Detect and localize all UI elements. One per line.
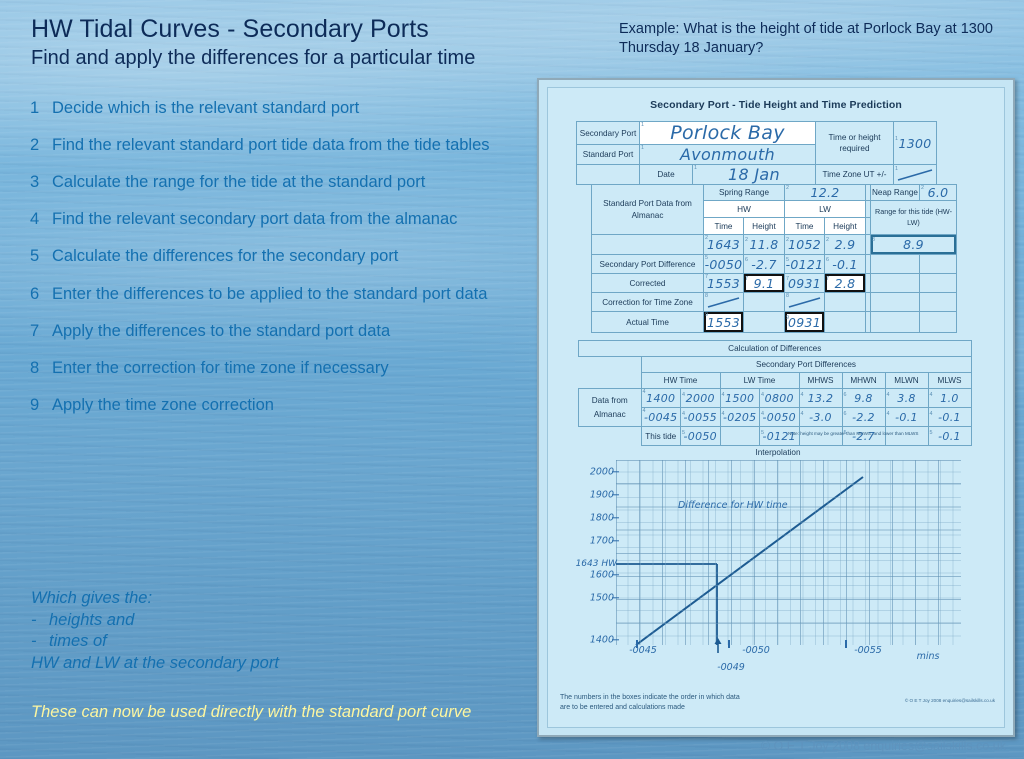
step-number: 6 [30, 284, 52, 305]
x-tick-mark [728, 640, 730, 648]
y-tick-label: 2000 [590, 467, 614, 478]
x-tick-label: -0045 [629, 645, 657, 656]
hw-height-value-cell[interactable]: 2 11.8 [744, 235, 785, 255]
col-mhws: MHWS [799, 373, 842, 389]
step-marker: 2 [745, 237, 748, 243]
standard-port-value: Avonmouth [680, 145, 775, 164]
step-marker: 4 [643, 389, 646, 395]
time-zone-label: Time Zone UT +/- [816, 165, 894, 185]
closing-line-3: -times of [31, 631, 531, 653]
step-marker: 4 [930, 392, 933, 398]
almanac-value: -0.1 [938, 411, 961, 424]
lw-height-value-cell[interactable]: 2 2.9 [825, 235, 866, 255]
y-tick-label: 1600 [590, 570, 614, 581]
time-or-height-field[interactable]: 1 1300 [894, 122, 937, 165]
step-number: 5 [30, 246, 52, 267]
corrected-hw-height-value: 9.1 [754, 276, 775, 291]
standard-port-data-label: Standard Port Data from Almanac [592, 185, 704, 235]
worksheet-footer: The numbers in the boxes indicate the or… [560, 693, 740, 713]
diagonal-stroke-icon [785, 293, 824, 311]
range-value: 8.9 [903, 237, 924, 252]
step-marker: 5 [705, 255, 708, 261]
up-arrow-icon [710, 638, 726, 654]
x-axis-label: mins [917, 651, 940, 662]
chart-plot [616, 460, 961, 645]
step-marker: 4 [682, 411, 685, 417]
diagonal-stroke-icon [704, 293, 743, 311]
secondary-port-field[interactable]: 1 Porlock Bay [640, 122, 816, 145]
closing-line-1: Which gives the: [31, 588, 531, 610]
list-item: 7 Apply the differences to the standard … [30, 321, 545, 342]
actual-lw-time-cell[interactable]: 9 0931 [785, 312, 825, 333]
step-marker: 1 [641, 145, 644, 151]
x-tick-mark [845, 640, 847, 648]
almanac-cell[interactable]: 40800 [760, 389, 800, 408]
actual-lw-time-value: 0931 [788, 315, 821, 330]
almanac-cell[interactable]: 4-0.1 [928, 408, 971, 427]
this-tide-mhw-cell[interactable]: 5-2.7 [842, 427, 885, 446]
chart-annotation: Difference for HW time [678, 500, 788, 511]
hw-time-header: Time [704, 218, 744, 235]
neap-range-field[interactable]: 2 6.0 [920, 185, 957, 201]
almanac-value: 3.8 [897, 392, 915, 405]
lw-group-label: LW [785, 201, 866, 218]
list-item: 9 Apply the time zone correction [30, 395, 545, 416]
spring-range-value: 12.2 [810, 185, 839, 200]
hw-time-value-cell[interactable]: 2 1643 [704, 235, 744, 255]
this-tide-hw-value: -0050 [684, 430, 717, 443]
almanac-value: 0800 [765, 392, 794, 405]
neap-range-value: 6.0 [928, 185, 949, 200]
almanac-cell[interactable]: 4-0205 [720, 408, 760, 427]
step-text: Find the relevant standard port tide dat… [52, 135, 545, 156]
hw-height-value: 11.8 [749, 237, 778, 252]
corrected-lw-height-value: 2.8 [835, 276, 856, 291]
closing-line-4: HW and LW at the secondary port [31, 653, 531, 675]
step-marker: 2 [786, 237, 789, 243]
corrected-hw-time-value: 1553 [707, 276, 740, 291]
col-mhwn: MHWN [842, 373, 885, 389]
almanac-cell[interactable]: 41500 [720, 389, 760, 408]
step-marker: 4 [761, 392, 764, 398]
range-for-tide-label: Range for this tide (HW-LW) [871, 201, 957, 235]
step-marker: 4 [722, 392, 725, 398]
y-tick-label: 1500 [590, 593, 614, 604]
actual-lw-blank [825, 312, 866, 333]
col-lw-time: LW Time [720, 373, 799, 389]
almanac-value: -0205 [723, 411, 756, 424]
date-field[interactable]: 1 18 Jan [693, 165, 816, 185]
differences-note: Note: height may be greater than MHWS, a… [788, 431, 918, 436]
step-number: 9 [30, 395, 52, 416]
step-marker: 7 [786, 276, 789, 282]
step-marker: 1 [641, 122, 644, 128]
secondary-port-value: Porlock Bay [670, 122, 785, 144]
almanac-value: 2000 [686, 392, 715, 405]
diff-lw-height-value: -0.1 [832, 257, 858, 272]
step-number: 3 [30, 172, 52, 193]
step-marker: 2 [786, 185, 789, 191]
step-marker: 6 [745, 257, 748, 263]
y-tick-mark [612, 540, 619, 541]
spring-range-field[interactable]: 2 12.2 [785, 185, 866, 201]
almanac-cell[interactable]: 413.2 [799, 389, 842, 408]
diff-lw-time-cell[interactable]: 5 -0121 [785, 255, 825, 274]
step-text: Enter the correction for time zone if ne… [52, 358, 545, 379]
actual-hw-blank [744, 312, 785, 333]
almanac-value: 13.2 [808, 392, 834, 405]
time-or-height-value: 1300 [898, 136, 931, 151]
tz-correction-lw-cell[interactable]: 8 [785, 293, 825, 312]
chart-grid: Difference for HW time [616, 460, 961, 645]
this-tide-mlw-cell[interactable]: 5-0.1 [928, 427, 971, 446]
diff-hw-height-cell[interactable]: 6 -2.7 [744, 255, 785, 274]
step-marker: 5 [930, 430, 933, 436]
this-tide-lw-cell[interactable]: 5-0121 [760, 427, 800, 446]
col-mlwn: MLWN [885, 373, 928, 389]
step-marker: 1 [895, 166, 898, 172]
this-tide-hw-cell[interactable]: 5-0050 [681, 427, 721, 446]
lw-time-value: 1052 [788, 237, 821, 252]
worksheet-heading: Secondary Port - Tide Height and Time Pr… [548, 88, 1004, 111]
data-from-almanac-label: Data from Almanac [579, 389, 642, 427]
hw-group-label: HW [704, 201, 785, 218]
hw-time-value: 1643 [707, 237, 740, 252]
almanac-cell[interactable]: 4-0055 [681, 408, 721, 427]
identity-table: Secondary Port 1 Porlock Bay Time or hei… [576, 121, 937, 185]
corrected-lw-height-cell[interactable]: 7 2.8 [825, 274, 866, 293]
differences-header: Secondary Port Differences [641, 357, 971, 373]
almanac-value: -3.0 [809, 411, 832, 424]
step-marker: 5 [761, 430, 764, 436]
almanac-value: -0055 [684, 411, 717, 424]
almanac-cell[interactable]: 4-0045 [641, 408, 681, 427]
step-number: 2 [30, 135, 52, 156]
corrected-hw-time-cell[interactable]: 7 1553 [704, 274, 744, 293]
step-number: 7 [30, 321, 52, 342]
almanac-value: -0050 [763, 411, 796, 424]
standard-port-field[interactable]: 1 Avonmouth [640, 145, 816, 165]
this-tide-label: This tide [641, 427, 681, 446]
almanac-cell[interactable]: 4-0.1 [885, 408, 928, 427]
step-marker: 6 [844, 392, 847, 398]
step-marker: 5 [786, 257, 789, 263]
tz-correction-hw-blank [744, 293, 785, 312]
footer-line-2: are to be entered and calculations made [560, 703, 740, 713]
date-label: Date [640, 165, 693, 185]
y-tick-label: 1700 [590, 536, 614, 547]
corrected-lw-time-cell[interactable]: 7 0931 [785, 274, 825, 293]
almanac-cell[interactable]: 43.8 [885, 389, 928, 408]
hw-height-header: Height [744, 218, 785, 235]
diff-lw-time-value: -0121 [786, 257, 824, 272]
step-marker: 1 [694, 165, 697, 171]
step-number: 8 [30, 358, 52, 379]
step-marker: 7 [745, 276, 748, 282]
almanac-value: 1.0 [940, 392, 958, 405]
interpolation-chart: Interpolation Difference for HW time 200… [568, 448, 988, 683]
step-marker: 1 [895, 136, 898, 142]
step-marker: 7 [826, 276, 829, 282]
step-marker: 4 [801, 411, 804, 417]
step-marker: 2 [705, 235, 708, 241]
time-zone-correction-label: Correction for Time Zone [592, 293, 704, 312]
almanac-cell[interactable]: 41.0 [928, 389, 971, 408]
almanac-value: 1500 [725, 392, 754, 405]
step-number: 4 [30, 209, 52, 230]
almanac-value: -0045 [644, 411, 677, 424]
almanac-value: -2.2 [852, 411, 875, 424]
diff-hw-height-value: -2.7 [751, 257, 777, 272]
readoff-x-label: -0049 [717, 662, 745, 673]
col-mlws: MLWS [928, 373, 971, 389]
step-text: Decide which is the relevant standard po… [52, 98, 545, 119]
worksheet-panel: Secondary Port - Tide Height and Time Pr… [537, 78, 1015, 737]
neap-range-label: Neap Range [871, 185, 920, 201]
list-item: 4 Find the relevant secondary port data … [30, 209, 545, 230]
final-note: These can now be used directly with the … [31, 702, 521, 724]
y-tick-label: 1400 [590, 635, 614, 646]
list-item: 3 Calculate the range for the tide at th… [30, 172, 545, 193]
time-zone-field[interactable]: 1 [894, 165, 937, 185]
worksheet-copyright: © O E T Joy 2008 enquiries@sailskills.co… [905, 698, 995, 703]
worksheet-inner: Secondary Port - Tide Height and Time Pr… [547, 87, 1005, 728]
y-tick-mark [612, 574, 619, 575]
almanac-cell[interactable]: 4-3.0 [799, 408, 842, 427]
standard-port-table: Standard Port Data from Almanac Spring R… [591, 184, 957, 333]
almanac-cell[interactable]: 42000 [681, 389, 721, 408]
y-tick-mark [612, 494, 619, 495]
lw-time-value-cell[interactable]: 2 1052 [785, 235, 825, 255]
step-marker: 8 [786, 293, 789, 299]
tz-correction-lw-blank [825, 293, 866, 312]
step-marker: 6 [826, 257, 829, 263]
almanac-cell[interactable]: 4-0050 [760, 408, 800, 427]
step-text: Calculate the range for the tide at the … [52, 172, 545, 193]
almanac-cell[interactable]: 6-2.2 [842, 408, 885, 427]
diff-hw-time-value: -0050 [705, 257, 743, 272]
readoff-y-label: 1643 HW [576, 559, 617, 569]
step-text: Apply the differences to the standard po… [52, 321, 545, 342]
step-marker: 3 [872, 237, 875, 243]
actual-time-label: Actual Time [592, 312, 704, 333]
diff-hw-time-cell[interactable]: 5 -0050 [704, 255, 744, 274]
step-marker: 4 [722, 411, 725, 417]
list-item: 1 Decide which is the relevant standard … [30, 98, 545, 119]
step-marker: 7 [705, 274, 708, 280]
step-text: Enter the differences to be applied to t… [52, 284, 545, 305]
date-value: 18 Jan [728, 165, 780, 184]
step-marker: 2 [826, 237, 829, 243]
page-title: HW Tidal Curves - Secondary Ports [31, 16, 591, 43]
corrected-lw-time-value: 0931 [788, 276, 821, 291]
step-marker: 8 [705, 293, 708, 299]
time-or-height-label: Time or height required [816, 122, 894, 165]
lw-time-header: Time [785, 218, 825, 235]
almanac-cell[interactable]: 41400 [641, 389, 681, 408]
step-marker: 4 [801, 392, 804, 398]
lw-height-value: 2.9 [835, 237, 856, 252]
step-text: Apply the time zone correction [52, 395, 545, 416]
diff-lw-height-cell[interactable]: 6 -0.1 [825, 255, 866, 274]
step-text: Calculate the differences for the second… [52, 246, 545, 267]
standard-port-label: Standard Port [577, 145, 640, 165]
list-item: 6 Enter the differences to be applied to… [30, 284, 545, 305]
this-tide-mlw-value: -0.1 [938, 430, 961, 443]
y-tick-mark [612, 471, 619, 472]
step-marker: 9 [705, 312, 708, 318]
closing-block: Which gives the: -heights and -times of … [31, 588, 531, 674]
step-number: 1 [30, 98, 52, 119]
y-tick-mark [612, 597, 619, 598]
step-marker: 4 [887, 392, 890, 398]
closing-line-2: -heights and [31, 610, 531, 632]
y-tick-label: 1800 [590, 513, 614, 524]
almanac-value: 9.8 [854, 392, 872, 405]
list-item: 5 Calculate the differences for the seco… [30, 246, 545, 267]
list-item: 8 Enter the correction for time zone if … [30, 358, 545, 379]
step-marker: 6 [844, 411, 847, 417]
step-marker: 4 [930, 411, 933, 417]
differences-title: Calculation of Differences [579, 341, 972, 357]
title-block: HW Tidal Curves - Secondary Ports Find a… [31, 16, 591, 69]
step-marker: 4 [887, 411, 890, 417]
page-subtitle: Find and apply the differences for a par… [31, 47, 591, 69]
step-marker: 4 [643, 408, 646, 414]
x-tick-label: -0050 [742, 645, 770, 656]
secondary-difference-label: Secondary Port Difference [592, 255, 704, 274]
step-marker: 4 [682, 392, 685, 398]
almanac-value: -0.1 [895, 411, 918, 424]
step-marker: 9 [786, 315, 789, 321]
example-question: Example: What is the height of tide at P… [619, 20, 1011, 59]
col-hw-time: HW Time [641, 373, 720, 389]
corrected-hw-height-cell[interactable]: 7 9.1 [744, 274, 785, 293]
lw-height-header: Height [825, 218, 866, 235]
y-tick-label: 1900 [590, 490, 614, 501]
y-tick-mark [612, 517, 619, 518]
diagonal-stroke-icon [894, 166, 936, 183]
almanac-value: 1400 [646, 392, 675, 405]
step-marker: 4 [761, 411, 764, 417]
secondary-port-label: Secondary Port [577, 122, 640, 145]
slide-watermark: © O E T Joy 2008 enquiries@sailskills.co… [761, 739, 1006, 753]
range-value-cell[interactable]: 3 8.9 [871, 235, 957, 255]
spring-range-label: Spring Range [704, 185, 785, 201]
step-marker: 5 [682, 430, 685, 436]
chart-title: Interpolation [568, 448, 988, 457]
step-text: Find the relevant secondary port data fr… [52, 209, 545, 230]
actual-hw-time-value: 1553 [707, 315, 740, 330]
x-tick-label: -0055 [854, 645, 882, 656]
almanac-cell[interactable]: 69.8 [842, 389, 885, 408]
tz-correction-hw-cell[interactable]: 8 [704, 293, 744, 312]
actual-hw-time-cell[interactable]: 9 1553 [704, 312, 744, 333]
corrected-label: Corrected [592, 274, 704, 293]
y-tick-mark [612, 639, 619, 640]
list-item: 2 Find the relevant standard port tide d… [30, 135, 545, 156]
steps-list: 1 Decide which is the relevant standard … [30, 98, 545, 432]
footer-line-1: The numbers in the boxes indicate the or… [560, 693, 740, 703]
step-marker: 2 [921, 185, 924, 191]
